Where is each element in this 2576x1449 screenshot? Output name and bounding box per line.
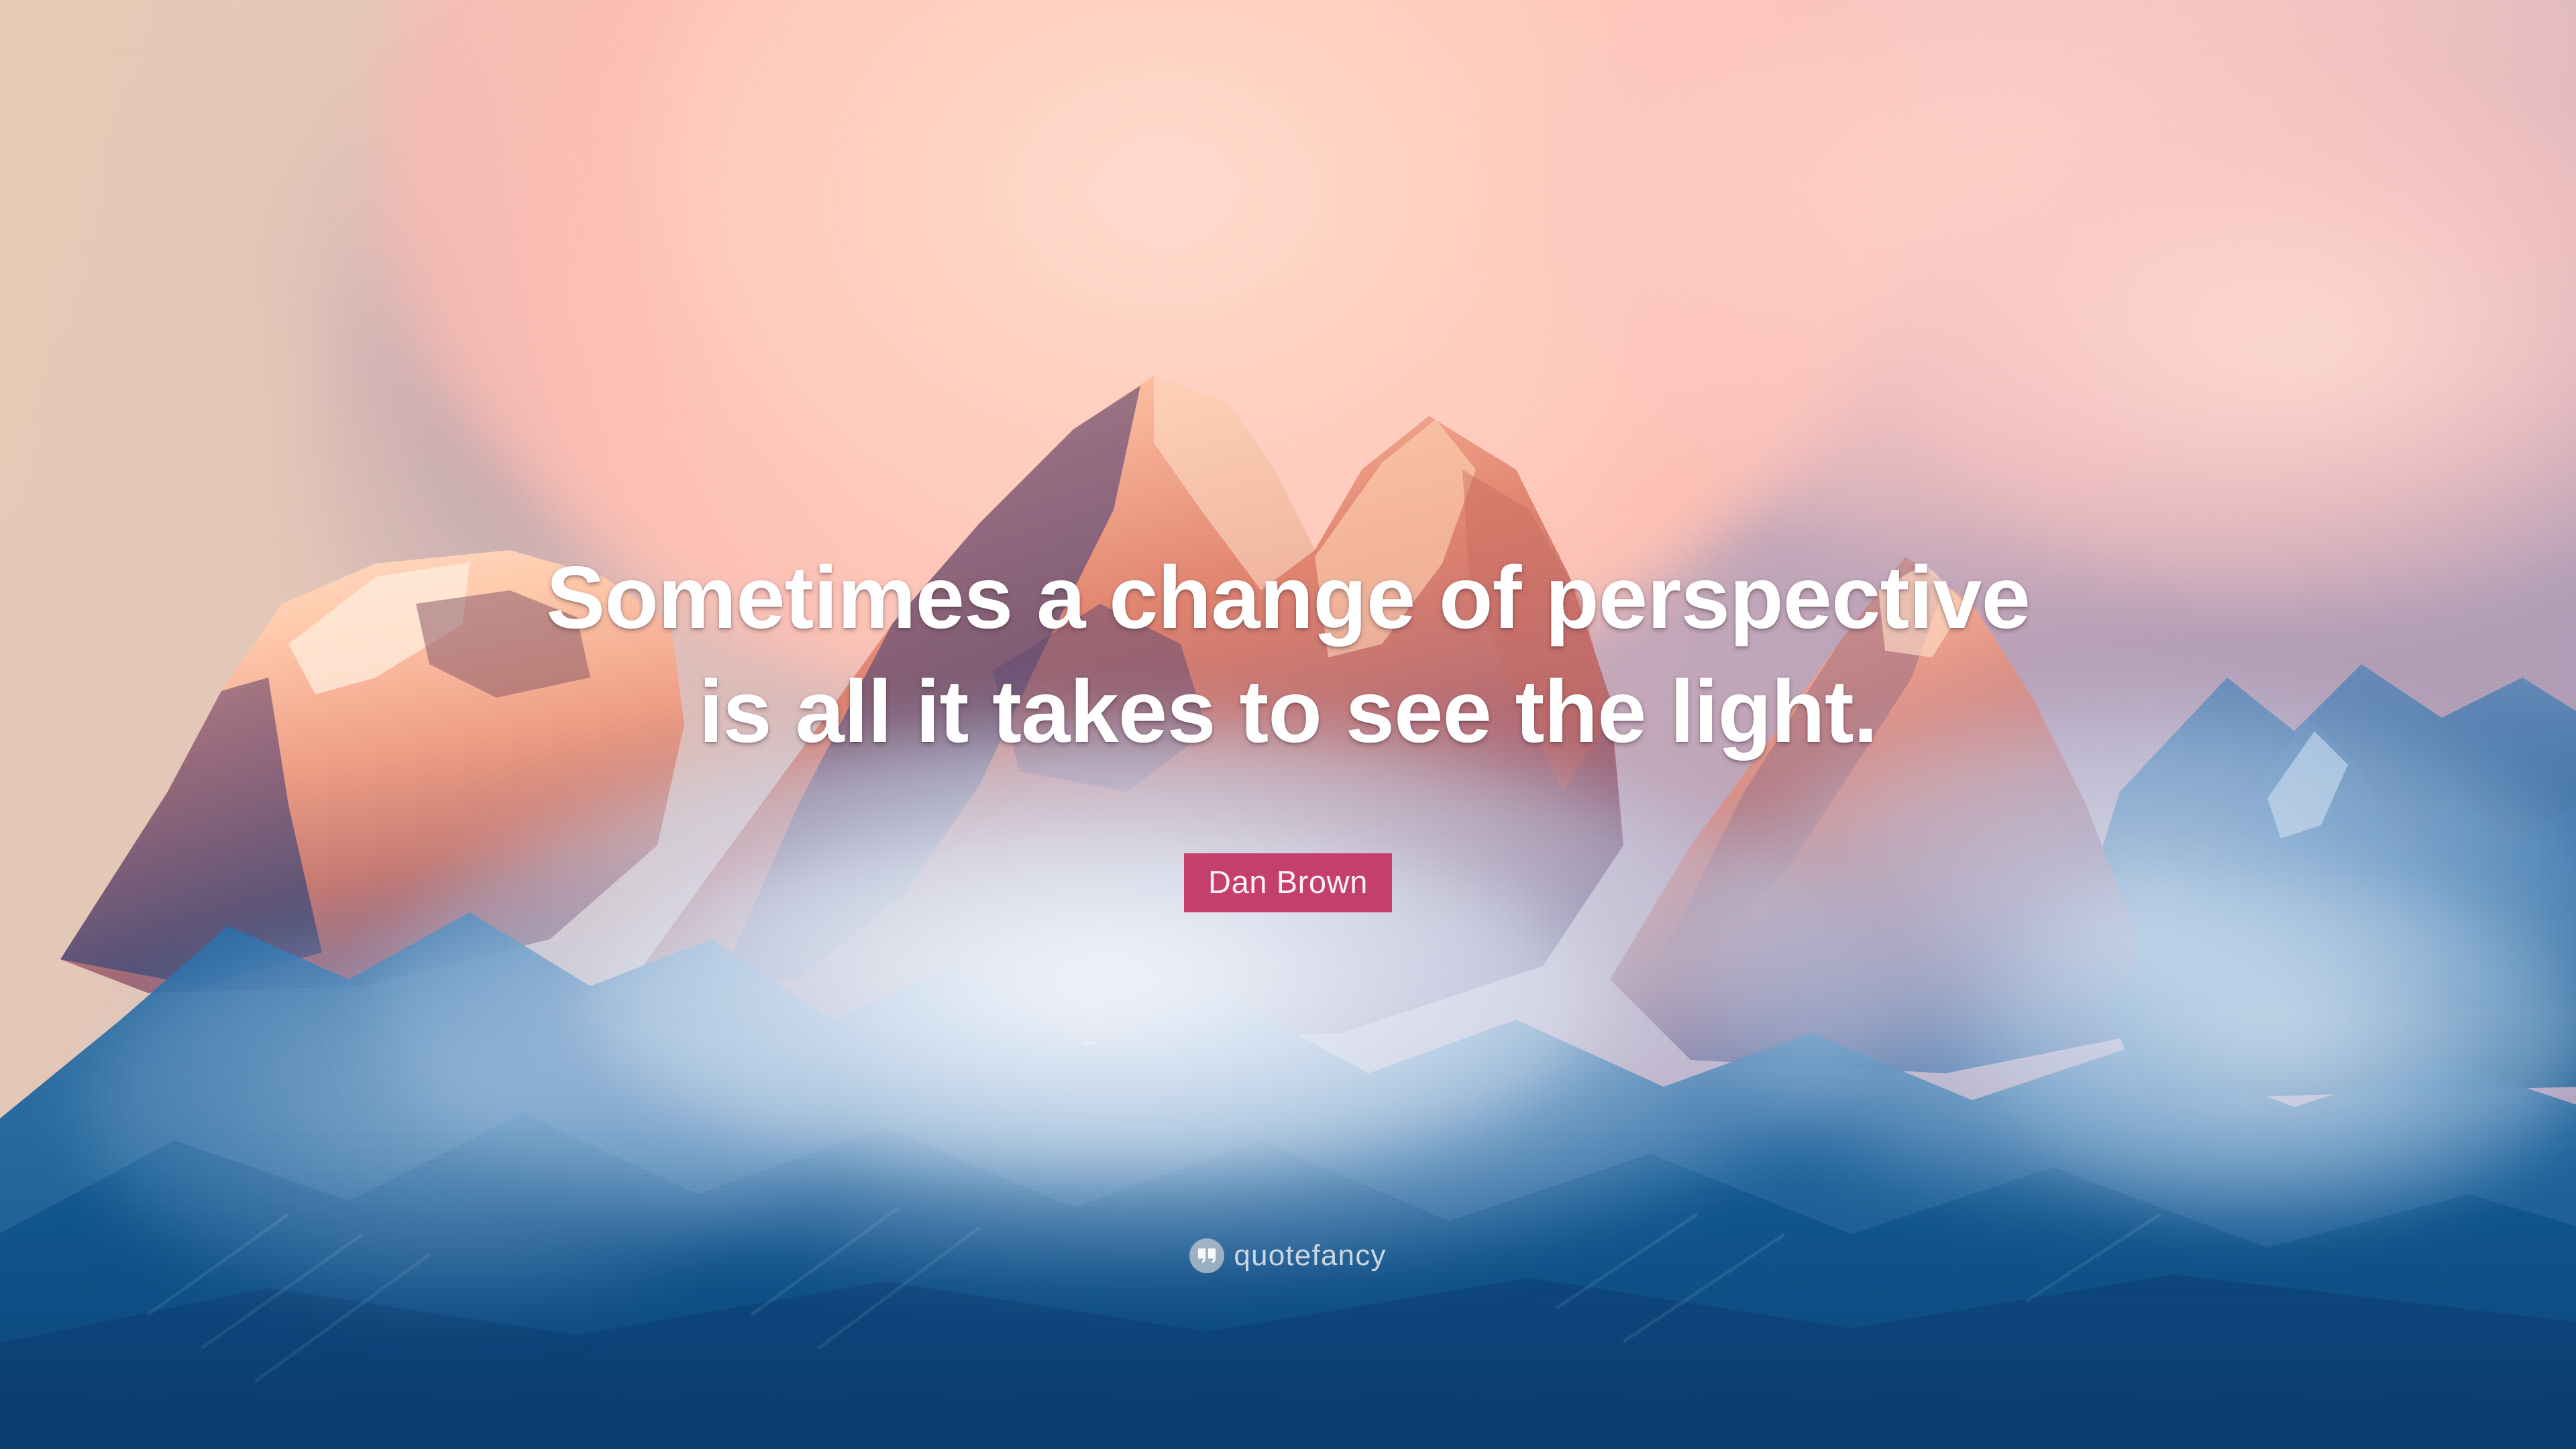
quote-line-2: is all it takes to see the light. xyxy=(134,655,2442,769)
quote-text: Sometimes a change of perspective is all… xyxy=(0,541,2576,769)
watermark-brand[interactable]: quotefancy xyxy=(1234,1241,1386,1271)
wallpaper-canvas: Sometimes a change of perspective is all… xyxy=(0,0,2576,1449)
double-quote-icon[interactable] xyxy=(1189,1238,1224,1273)
quote-line-1: Sometimes a change of perspective xyxy=(134,541,2442,655)
author-badge[interactable]: Dan Brown xyxy=(1184,853,1392,912)
